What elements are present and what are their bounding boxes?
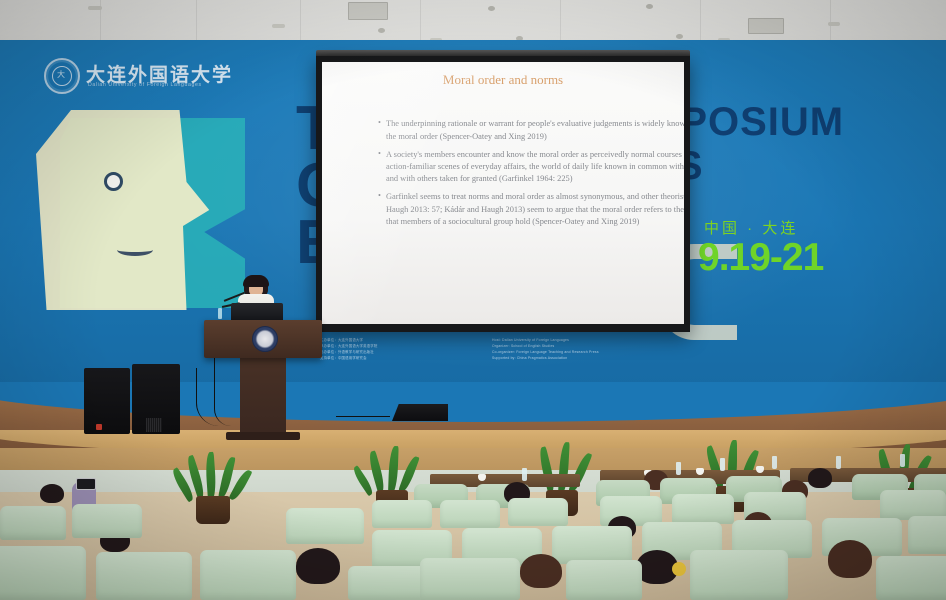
audience-seat xyxy=(286,508,364,544)
lectern-university-emblem xyxy=(252,326,278,352)
ceiling-vent xyxy=(348,2,388,20)
ceiling-spotlight xyxy=(378,28,385,33)
audience-head xyxy=(520,554,562,588)
university-logo: 大 xyxy=(44,58,80,94)
audience-seat xyxy=(440,500,500,528)
water-bottle xyxy=(676,462,681,475)
audience-seat xyxy=(566,560,642,600)
ceiling-light xyxy=(828,22,840,26)
slide-bullet: Garfinkel seems to treat norms and moral… xyxy=(378,191,684,228)
face-mural-mouth xyxy=(117,244,153,256)
audience-head xyxy=(40,484,64,503)
backdrop-credit-left-2: 承办单位：大连外国语大学英语学院 xyxy=(320,344,377,349)
university-logo-en: Dalian University of Foreign Languages xyxy=(88,82,202,88)
ceiling-spotlight xyxy=(646,4,653,9)
audience-head xyxy=(808,468,832,488)
audience-head xyxy=(296,548,340,584)
presenter-fringe xyxy=(243,275,269,287)
water-bottle xyxy=(218,308,222,319)
water-bottle xyxy=(900,454,905,467)
audience-seat xyxy=(690,550,788,600)
hair-ribbon xyxy=(672,562,686,576)
backdrop-credit-right-2: Organizer: School of English Studies xyxy=(492,344,554,349)
audience-seat xyxy=(672,494,734,524)
ceiling-light xyxy=(88,6,102,10)
stage-cable xyxy=(336,398,390,417)
phone-icon xyxy=(76,478,96,490)
ceiling-spotlight xyxy=(676,34,683,39)
audience-seat xyxy=(96,552,192,600)
slide-bullet: The underpinning rationale or warrant fo… xyxy=(378,118,684,142)
stage-monitor-speaker xyxy=(392,404,448,421)
ceiling-spotlight xyxy=(488,6,495,11)
backdrop-credit-left-3: 协办单位：外语教学与研究出版社 xyxy=(320,350,374,355)
pa-speaker-grille xyxy=(146,418,162,432)
audience-seat xyxy=(372,500,432,528)
water-bottle xyxy=(522,468,527,481)
slide-bullet: A society's members encounter and know t… xyxy=(378,149,684,186)
lecture-hall-photo: 大 大连外国语大学 Dalian University of Foreign L… xyxy=(0,0,946,600)
backdrop-credit-left-1: 主办单位：大连外国语大学 xyxy=(320,338,363,343)
audience-seat xyxy=(72,504,142,538)
projection-screen: Moral order and norms The underpinning r… xyxy=(322,62,684,324)
audience-seat xyxy=(0,546,86,600)
pa-speaker-badge xyxy=(96,424,102,430)
slide-title: Moral order and norms xyxy=(322,72,684,88)
audience-seat xyxy=(908,516,946,554)
water-bottle xyxy=(720,458,725,471)
backdrop-location-text: 中国 · 大连 xyxy=(704,217,798,238)
backdrop-credit-right-1: Host: Dalian University of Foreign Langu… xyxy=(492,338,569,343)
audience-seat xyxy=(552,526,632,564)
audience-seat xyxy=(508,498,568,526)
backdrop-credit-left-4: 支持单位：中国语用学研究会 xyxy=(320,356,367,361)
audience-seat xyxy=(0,506,66,540)
pa-speaker-left xyxy=(84,368,130,434)
audience-seat xyxy=(876,556,946,600)
ceiling-light xyxy=(272,24,285,28)
plant-pot xyxy=(196,496,230,524)
lectern-base xyxy=(226,432,300,440)
water-bottle xyxy=(836,456,841,469)
audience-seat xyxy=(200,550,296,600)
face-mural-eye xyxy=(104,172,123,191)
audience-seat xyxy=(420,558,520,600)
backdrop-credit-right-3: Co-organizer: Foreign Language Teaching … xyxy=(492,350,599,355)
backdrop-credit-right-4: Supported by: China Pragmatics Associati… xyxy=(492,356,567,361)
audience-head xyxy=(828,540,872,578)
ceiling-vent xyxy=(748,18,784,34)
slide-bullet-list: The underpinning rationale or warrant fo… xyxy=(338,118,684,234)
backdrop-date-text: 9.19-21 xyxy=(698,236,823,280)
water-bottle xyxy=(772,456,777,469)
